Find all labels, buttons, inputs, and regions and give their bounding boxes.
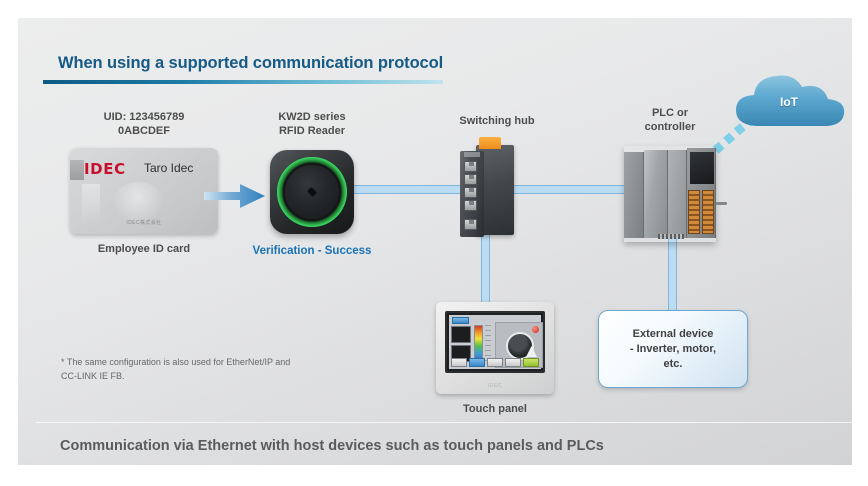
hmi-alarm-indicator	[532, 326, 539, 333]
hmi-camera-thumb-1	[451, 326, 471, 343]
external-device-box: External device - Inverter, motor, etc.	[598, 310, 748, 388]
cable-hub-to-plc	[496, 185, 636, 194]
footer-caption: Communication via Ethernet with host dev…	[60, 438, 604, 454]
footnote: * The same configuration is also used fo…	[61, 355, 391, 383]
switching-hub-caption: Switching hub	[438, 114, 556, 128]
plc-terminal-block-2	[702, 190, 714, 234]
hmi-screen-content	[449, 315, 541, 369]
iot-cloud: IoT	[730, 65, 854, 137]
rfid-reader-device	[270, 150, 354, 234]
touch-panel-brand: IDEC	[436, 383, 554, 389]
hmi-button-5	[523, 358, 539, 367]
uid-line-2: 0ABCDEF	[70, 124, 218, 138]
hmi-top-button	[452, 317, 469, 324]
hmi-button-4	[505, 358, 521, 367]
card-stripe	[82, 184, 100, 224]
uid-line-1: UID: 123456789	[70, 110, 218, 124]
touch-panel-device: IDEC	[436, 302, 554, 394]
plc-caption-1: PLC or	[614, 106, 726, 120]
plc-caption-2: controller	[614, 120, 726, 134]
external-device-text: External device - Inverter, motor, etc.	[630, 327, 716, 372]
employee-id-card: IDEC Taro Idec IDEC株式会社	[70, 148, 218, 234]
plc-display-window	[690, 152, 714, 184]
hub-port-5	[464, 219, 477, 230]
plc-connector-pins	[658, 234, 684, 239]
plc-device	[624, 146, 716, 242]
rfid-reader-caption-2: RFID Reader	[254, 124, 370, 138]
card-fine-print: IDEC株式会社	[70, 219, 218, 226]
hub-port-3	[464, 187, 477, 198]
footer-divider	[36, 422, 868, 423]
hmi-button-row	[451, 358, 539, 367]
touch-panel-caption: Touch panel	[426, 402, 564, 416]
diagram-canvas: When using a supported communication pro…	[0, 0, 868, 486]
hub-port-4	[464, 200, 477, 211]
plc-terminal-block-1	[688, 190, 700, 234]
hub-power-terminal	[479, 137, 501, 149]
plc-module-io	[668, 150, 687, 238]
card-chip-icon	[70, 160, 84, 180]
hmi-round-dial	[506, 332, 534, 360]
touch-panel-screen	[445, 311, 545, 373]
hub-port-2	[464, 174, 477, 185]
title-underline	[43, 80, 443, 84]
cable-reader-to-hub	[336, 185, 466, 194]
hmi-dial-needle	[526, 346, 537, 357]
plc-module-power	[624, 152, 644, 238]
hub-label	[464, 152, 480, 157]
employee-id-card-caption: Employee ID card	[70, 242, 218, 256]
hmi-button-2	[469, 358, 485, 367]
hmi-button-1	[451, 358, 467, 367]
verification-status: Verification - Success	[236, 244, 388, 258]
rfid-reader-caption-1: KW2D series	[254, 110, 370, 124]
plc-module-cpu	[644, 150, 668, 238]
idec-logo: IDEC	[84, 160, 126, 178]
hmi-button-3	[487, 358, 503, 367]
iot-label: IoT	[730, 95, 848, 109]
content-panel: When using a supported communication pro…	[18, 18, 852, 465]
hub-port-1	[464, 161, 477, 172]
page-title: When using a supported communication pro…	[58, 54, 443, 73]
switching-hub-device	[458, 143, 514, 238]
card-holder-name: Taro Idec	[144, 161, 193, 175]
tap-arrow-icon	[204, 183, 266, 209]
